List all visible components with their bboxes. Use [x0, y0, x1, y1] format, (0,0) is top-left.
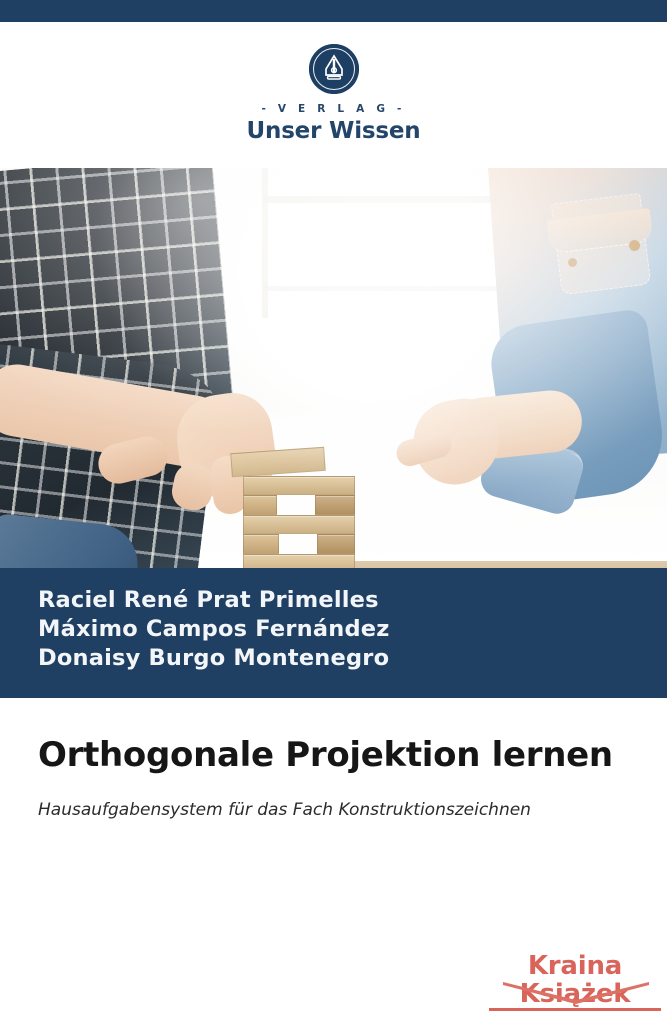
author-name: Máximo Campos Fernández	[38, 615, 667, 644]
publisher-name: Unser Wissen	[247, 118, 421, 144]
top-accent-strip	[0, 0, 667, 22]
denim-button	[629, 240, 640, 251]
authors-band: Raciel René Prat Primelles Máximo Campos…	[0, 568, 667, 698]
publisher-prefix: - V E R L A G -	[261, 103, 405, 115]
author-name: Donaisy Burgo Montenegro	[38, 644, 667, 673]
open-book-icon	[503, 982, 649, 1008]
title-block: Orthogonale Projektion lernen Hausaufgab…	[0, 698, 667, 823]
denim-button	[568, 258, 577, 267]
jenga-tower	[243, 476, 355, 568]
window-mullion-vertical	[262, 168, 268, 318]
book-subtitle: Hausaufgabensystem für das Fach Konstruk…	[38, 798, 627, 823]
book-title: Orthogonale Projektion lernen	[38, 734, 627, 776]
cover-photo	[0, 168, 667, 568]
pen-nib-icon	[309, 44, 359, 94]
author-name: Raciel René Prat Primelles	[38, 586, 667, 615]
publisher-logo-block: - V E R L A G - Unser Wissen	[0, 22, 667, 168]
watermark: Kraina Książek	[489, 952, 661, 994]
